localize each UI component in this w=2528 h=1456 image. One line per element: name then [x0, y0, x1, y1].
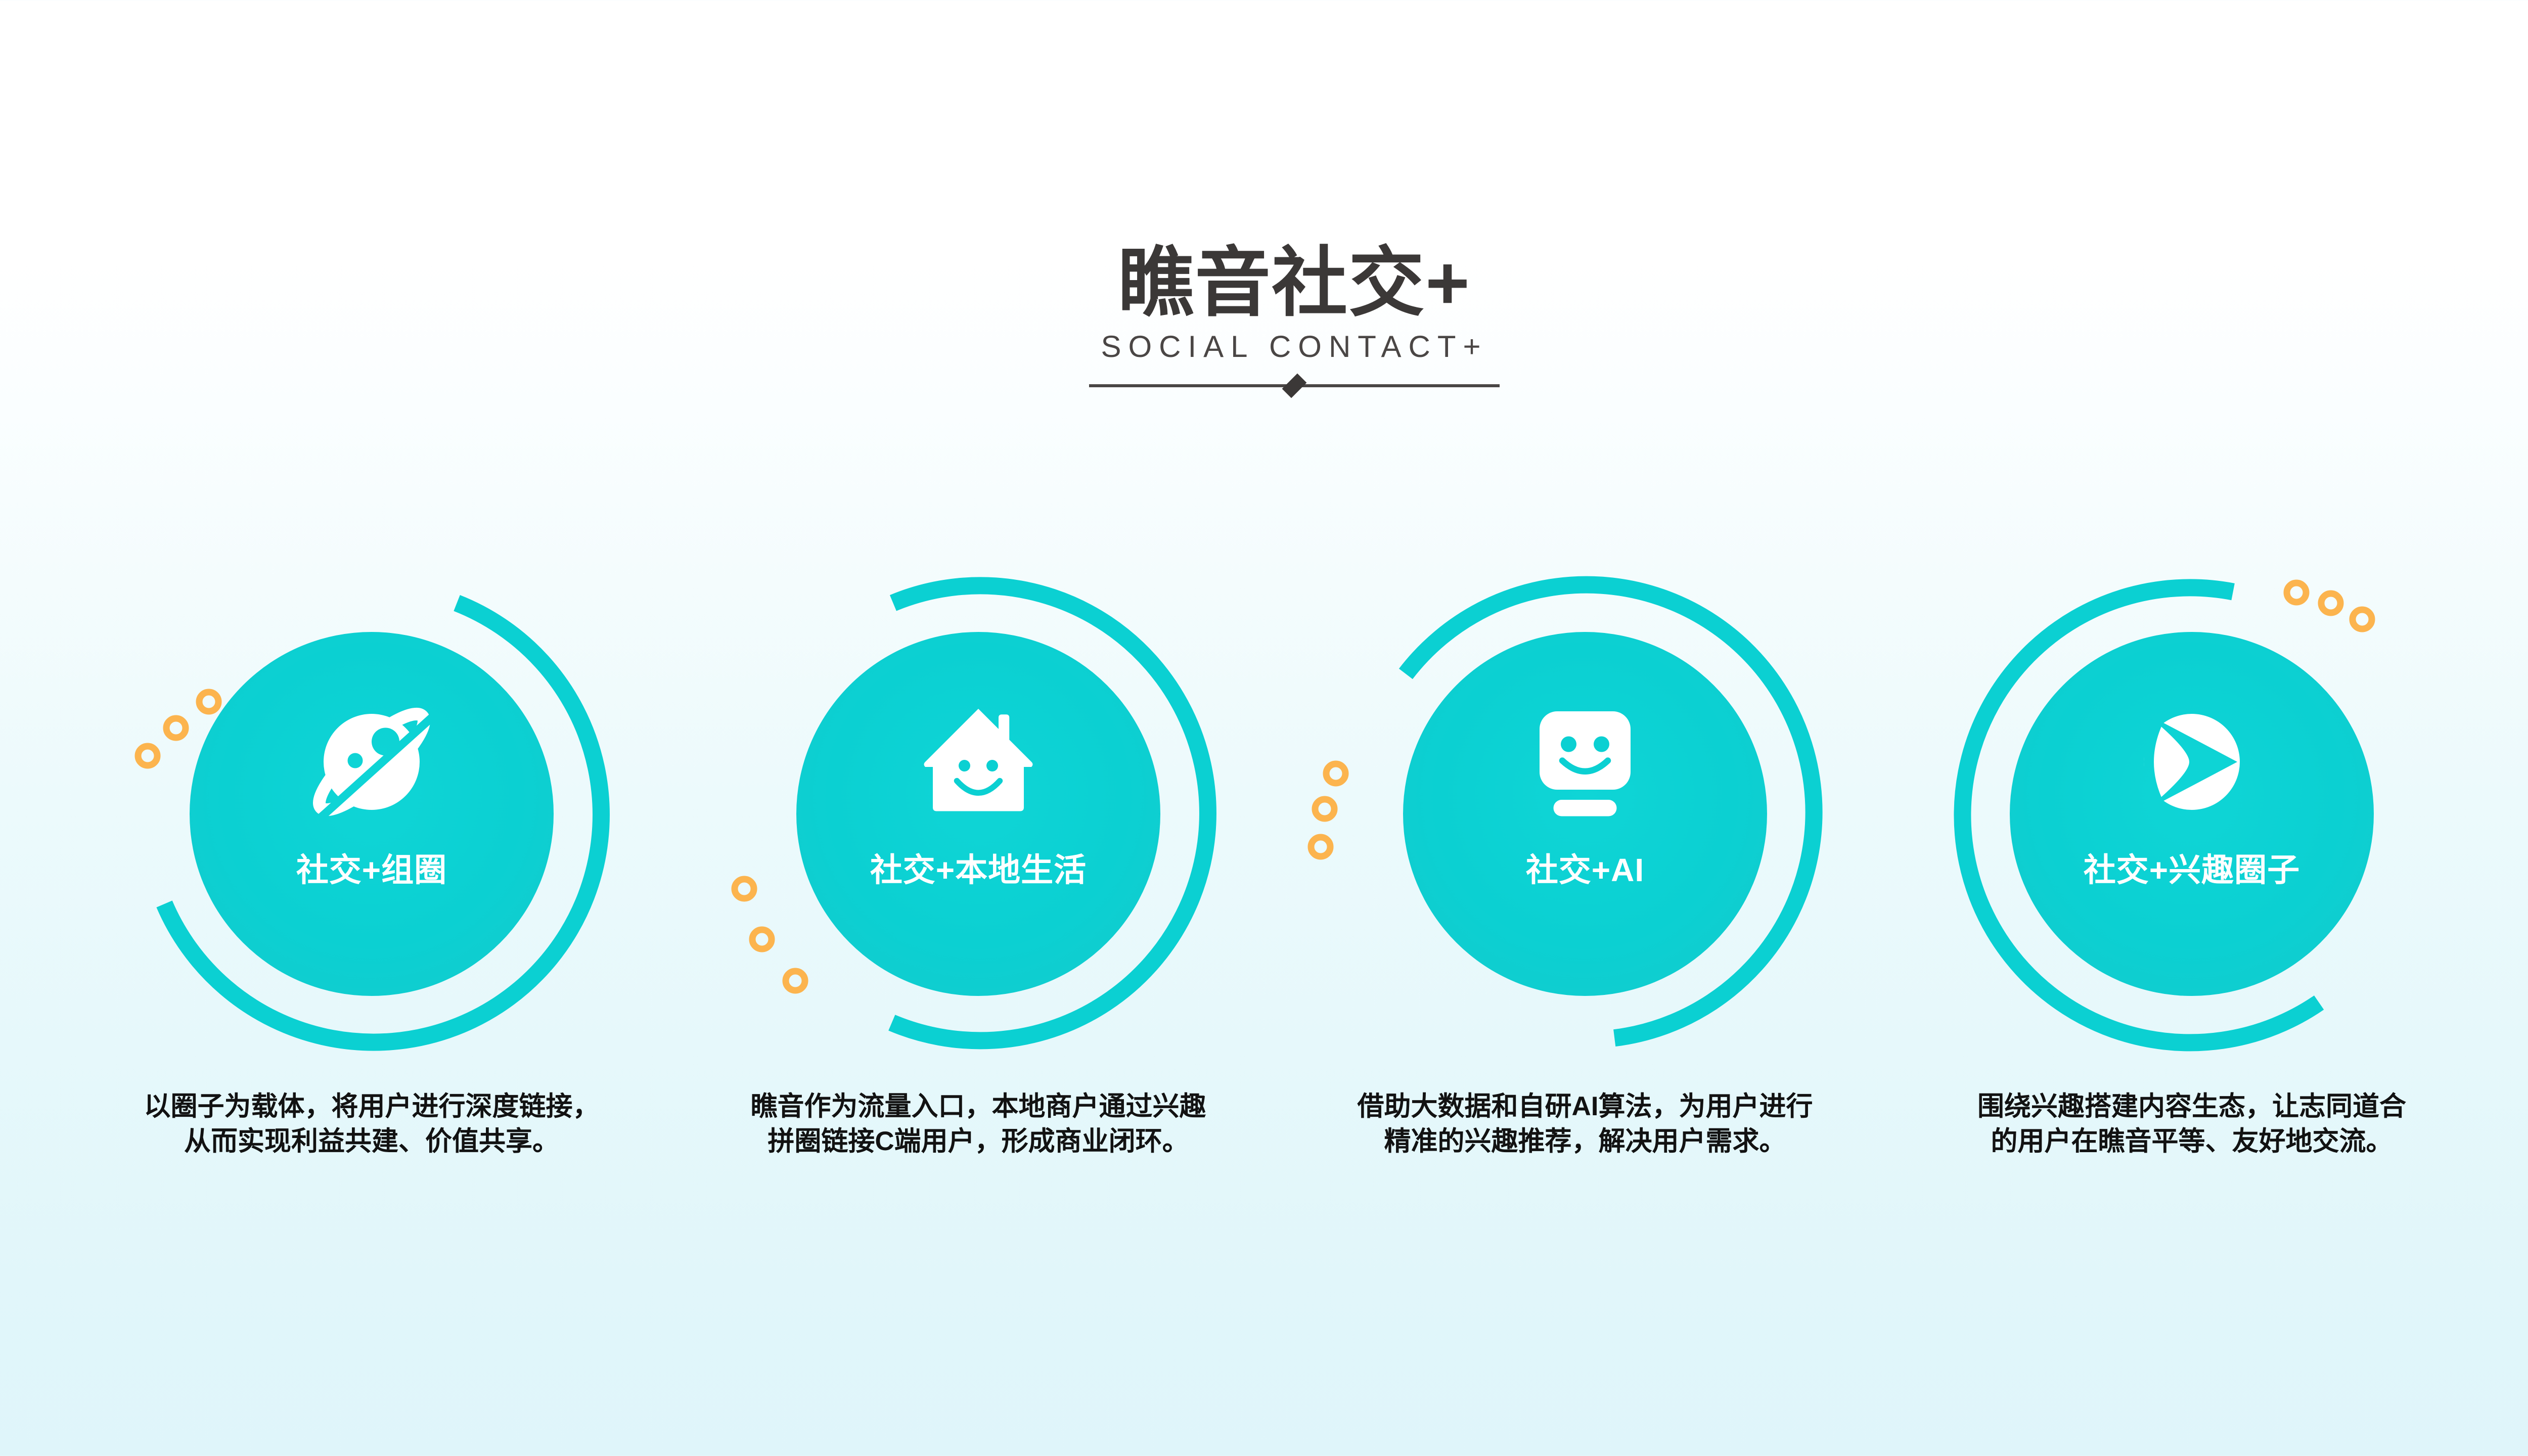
badge-wrap: 社交+兴趣圈子 — [1881, 571, 2503, 1077]
card-caption: 围绕兴趣搭建内容生态，让志同道合 的用户在瞧音平等、友好地交流。 — [1881, 1089, 2503, 1159]
planet-icon — [308, 699, 435, 825]
caption-line: 从而实现利益共建、价值共享。 — [61, 1124, 683, 1159]
caption-line: 借助大数据和自研AI算法，为用户进行 — [1274, 1089, 1896, 1124]
caption-line: 围绕兴趣搭建内容生态，让志同道合 — [1881, 1089, 2503, 1124]
card-caption: 瞧音作为流量入口，本地商户通过兴趣 拼圈链接C端用户，形成商业闭环。 — [667, 1089, 1289, 1159]
card-caption: 以圈子为载体，将用户进行深度链接， 从而实现利益共建、价值共享。 — [61, 1089, 683, 1159]
feature-card[interactable]: 社交+组圈 以圈子为载体，将用户进行深度链接， 从而实现利益共建、价值共享。 — [61, 571, 683, 1279]
caption-line: 以圈子为载体，将用户进行深度链接， — [61, 1089, 683, 1124]
feature-disc[interactable]: 社交+本地生活 — [796, 632, 1160, 996]
caption-line: 拼圈链接C端用户，形成商业闭环。 — [667, 1124, 1289, 1159]
disc-label: 社交+AI — [1526, 844, 1644, 891]
title-divider — [1089, 383, 1500, 388]
diamond-icon — [1282, 374, 1307, 398]
page-header: 瞧音社交+ SOCIAL CONTACT+ — [0, 243, 2528, 388]
page-subtitle: SOCIAL CONTACT+ — [0, 329, 2528, 364]
feature-disc[interactable]: 社交+兴趣圈子 — [2010, 632, 2374, 996]
disc-label: 社交+兴趣圈子 — [2084, 844, 2300, 891]
smiling-house-icon — [915, 699, 1042, 825]
disc-label: 社交+本地生活 — [870, 844, 1087, 891]
badge-wrap: 社交+组圈 — [61, 571, 683, 1077]
caption-line: 精准的兴趣推荐，解决用户需求。 — [1274, 1124, 1896, 1159]
feature-disc[interactable]: 社交+组圈 — [190, 632, 554, 996]
caption-line: 瞧音作为流量入口，本地商户通过兴趣 — [667, 1089, 1289, 1124]
page-title: 瞧音社交+ — [0, 243, 2528, 323]
poster-canvas: 瞧音社交+ SOCIAL CONTACT+ — [0, 0, 2528, 1456]
feature-disc[interactable]: 社交+AI — [1403, 632, 1767, 996]
feature-card[interactable]: 社交+本地生活 瞧音作为流量入口，本地商户通过兴趣 拼圈链接C端用户，形成商业闭… — [667, 571, 1289, 1279]
badge-wrap: 社交+AI — [1274, 571, 1896, 1077]
feature-card[interactable]: 社交+兴趣圈子 围绕兴趣搭建内容生态，让志同道合 的用户在瞧音平等、友好地交流。 — [1881, 571, 2503, 1279]
globe-icon — [2129, 699, 2255, 825]
orange-dot-icon — [1311, 837, 1330, 856]
badge-wrap: 社交+本地生活 — [667, 571, 1289, 1077]
robot-face-icon — [1522, 699, 1648, 825]
disc-label: 社交+组圈 — [296, 844, 447, 891]
caption-line: 的用户在瞧音平等、友好地交流。 — [1881, 1124, 2503, 1159]
orange-dot-icon — [1315, 799, 1334, 818]
feature-card-list: 社交+组圈 以圈子为载体，将用户进行深度链接， 从而实现利益共建、价值共享。 — [0, 571, 2528, 1279]
feature-card[interactable]: 社交+AI 借助大数据和自研AI算法，为用户进行 精准的兴趣推荐，解决用户需求。 — [1274, 571, 1896, 1279]
card-caption: 借助大数据和自研AI算法，为用户进行 精准的兴趣推荐，解决用户需求。 — [1274, 1089, 1896, 1159]
